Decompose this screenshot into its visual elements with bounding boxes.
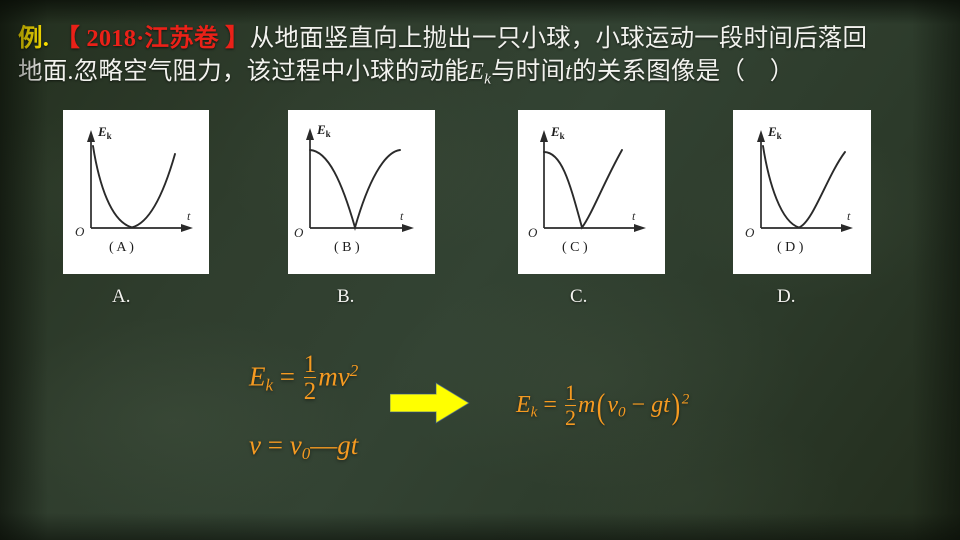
formula-velocity: v = v0—gt bbox=[249, 430, 358, 464]
implies-arrow-icon bbox=[390, 381, 470, 425]
formula-result: Ek = 1 2 m(v0 − gt)2 bbox=[516, 382, 689, 429]
formula1-denominator: 2 bbox=[304, 377, 316, 404]
formula2-v0: v bbox=[290, 430, 302, 460]
x-axis-label-d: t bbox=[847, 209, 851, 223]
prompt-line2-part1: 地面.忽略空气阻力，该过程中小球的动能 bbox=[18, 58, 469, 85]
x-axis-label-a: t bbox=[187, 209, 191, 223]
formula2-lhs: v bbox=[249, 430, 261, 460]
origin-label-b: O bbox=[294, 225, 304, 240]
y-axis-arrowhead-a bbox=[87, 130, 95, 142]
x-axis-label-c: t bbox=[632, 209, 636, 223]
formula3-lhs: E bbox=[516, 392, 531, 418]
slide-canvas: 例. 【 2018·江苏卷 】从地面竖直向上抛出一只小球，小球运动一段时间后落回… bbox=[0, 0, 960, 540]
formula3-equals: = bbox=[543, 392, 557, 418]
option-card-a[interactable]: O t Ek ( A ) bbox=[63, 110, 209, 274]
formula2-v0-sub: 0 bbox=[302, 444, 311, 463]
formula3-lhs-sub: k bbox=[531, 405, 538, 421]
graph-d: O t Ek ( D ) bbox=[733, 110, 871, 274]
x-axis-arrowhead-a bbox=[181, 224, 193, 232]
formula1-fraction: 1 2 bbox=[304, 352, 316, 405]
formula2-equals: = bbox=[268, 430, 283, 460]
y-axis-label-d: Ek bbox=[767, 124, 782, 141]
y-axis-arrowhead-c bbox=[540, 130, 548, 142]
caption-b: ( B ) bbox=[334, 240, 360, 255]
curve-b bbox=[310, 150, 400, 228]
y-axis-arrowhead-d bbox=[757, 130, 765, 142]
curve-d bbox=[763, 146, 845, 228]
formula2-gt: gt bbox=[337, 430, 358, 460]
formula3-denominator: 2 bbox=[565, 405, 576, 430]
y-axis-label-c: Ek bbox=[550, 124, 565, 141]
caption-d: ( D ) bbox=[777, 240, 804, 255]
formula3-numerator: 1 bbox=[565, 382, 576, 405]
graph-c: O t Ek ( C ) bbox=[518, 110, 665, 274]
formula2-minus: — bbox=[310, 430, 337, 460]
formula3-fraction: 1 2 bbox=[565, 382, 576, 429]
option-label-c: C. bbox=[570, 286, 587, 308]
origin-label-c: O bbox=[528, 225, 538, 240]
formula1-numerator: 1 bbox=[304, 352, 316, 377]
formula1-exponent: 2 bbox=[350, 361, 359, 380]
formula1-lhs-sub: k bbox=[266, 375, 274, 394]
y-axis-label-a: Ek bbox=[97, 124, 112, 141]
formula1-lhs: E bbox=[249, 361, 266, 391]
symbol-Ek: Ek bbox=[469, 58, 491, 85]
example-label: 例. bbox=[18, 25, 49, 52]
y-axis-label-b: Ek bbox=[316, 122, 331, 139]
graph-b: O t Ek ( B ) bbox=[288, 110, 435, 274]
formula3-exponent: 2 bbox=[682, 392, 690, 408]
option-card-b[interactable]: O t Ek ( B ) bbox=[288, 110, 435, 274]
option-label-d: D. bbox=[777, 286, 795, 308]
caption-a: ( A ) bbox=[109, 240, 134, 255]
curve-c bbox=[544, 150, 622, 228]
origin-label-a: O bbox=[75, 224, 85, 239]
origin-label-d: O bbox=[745, 225, 755, 240]
option-card-c[interactable]: O t Ek ( C ) bbox=[518, 110, 665, 274]
x-axis-arrowhead-c bbox=[634, 224, 646, 232]
y-axis-arrowhead-b bbox=[306, 128, 314, 140]
prompt-line2-part3: 的关系图像是（ ） bbox=[572, 58, 794, 85]
formula3-open-paren: ( bbox=[597, 385, 606, 427]
formula1-rest: mv bbox=[318, 361, 349, 391]
formula3-v0: v bbox=[607, 392, 618, 418]
x-axis-arrowhead-b bbox=[402, 224, 414, 232]
formula3-mass: m bbox=[578, 392, 595, 418]
caption-c: ( C ) bbox=[562, 240, 588, 255]
x-axis-arrowhead-d bbox=[841, 224, 853, 232]
formula1-equals: = bbox=[280, 361, 295, 391]
formula3-gt: gt bbox=[651, 392, 670, 418]
prompt-line1-text: 从地面竖直向上抛出一只小球，小球运动一段时间后落回 bbox=[250, 25, 868, 52]
option-label-b: B. bbox=[337, 286, 354, 308]
graph-a: O t Ek ( A ) bbox=[63, 110, 209, 274]
option-card-d[interactable]: O t Ek ( D ) bbox=[733, 110, 871, 274]
formula3-minus: − bbox=[632, 392, 646, 418]
curve-a bbox=[93, 146, 175, 227]
formula3-v0-sub: 0 bbox=[618, 405, 626, 421]
prompt-line2-part2: 与时间 bbox=[491, 58, 565, 85]
exam-source-label: 【 2018·江苏卷 】 bbox=[55, 25, 249, 52]
x-axis-label-b: t bbox=[400, 209, 404, 223]
option-label-a: A. bbox=[112, 286, 130, 308]
question-prompt: 例. 【 2018·江苏卷 】从地面竖直向上抛出一只小球，小球运动一段时间后落回… bbox=[18, 22, 948, 95]
formula3-close-paren: ) bbox=[671, 385, 680, 427]
formula-kinetic-energy: Ek = 1 2 mv2 bbox=[249, 352, 358, 405]
